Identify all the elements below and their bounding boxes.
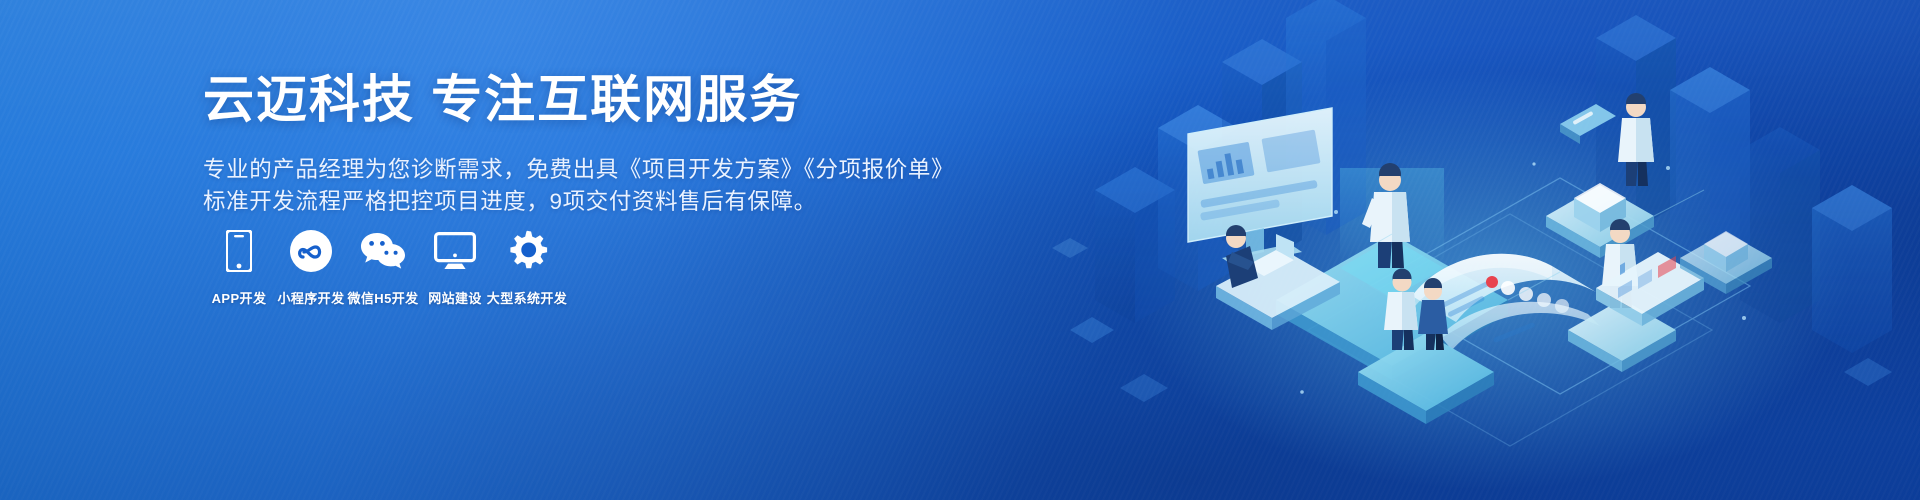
hero-banner: 云迈科技 专注互联网服务 专业的产品经理为您诊断需求，免费出具《项目开发方案》《… — [0, 0, 1920, 500]
service-item-website[interactable]: 网站建设 — [419, 228, 491, 307]
service-list: APP开发 小程序开发 微信 — [203, 228, 563, 307]
wechat-bubbles-icon — [360, 228, 406, 274]
desktop-monitor-icon — [432, 228, 478, 274]
service-label: 小程序开发 — [277, 288, 344, 307]
service-item-large-system[interactable]: 大型系统开发 — [491, 228, 563, 307]
hero-subtitle: 专业的产品经理为您诊断需求，免费出具《项目开发方案》《分项报价单》 标准开发流程… — [203, 154, 903, 218]
subtitle-line-2: 标准开发流程严格把控项目进度，9项交付资料售后有保障。 — [203, 186, 903, 218]
service-item-app[interactable]: APP开发 — [203, 228, 275, 307]
service-label: 大型系统开发 — [487, 288, 567, 307]
subtitle-line-1: 专业的产品经理为您诊断需求，免费出具《项目开发方案》《分项报价单》 — [203, 154, 903, 186]
mobile-phone-icon — [216, 228, 262, 274]
service-label: 微信H5开发 — [347, 288, 418, 307]
mini-program-icon — [288, 228, 334, 274]
page-title: 云迈科技 专注互联网服务 — [203, 70, 903, 130]
isometric-tech-team-illustration — [1040, 0, 1920, 500]
service-item-mini-program[interactable]: 小程序开发 — [275, 228, 347, 307]
service-label: 网站建设 — [428, 288, 482, 307]
service-label: APP开发 — [212, 288, 267, 307]
gear-icon — [504, 228, 550, 274]
hero-copy: 云迈科技 专注互联网服务 专业的产品经理为您诊断需求，免费出具《项目开发方案》《… — [203, 70, 903, 218]
service-item-wechat-h5[interactable]: 微信H5开发 — [347, 228, 419, 307]
